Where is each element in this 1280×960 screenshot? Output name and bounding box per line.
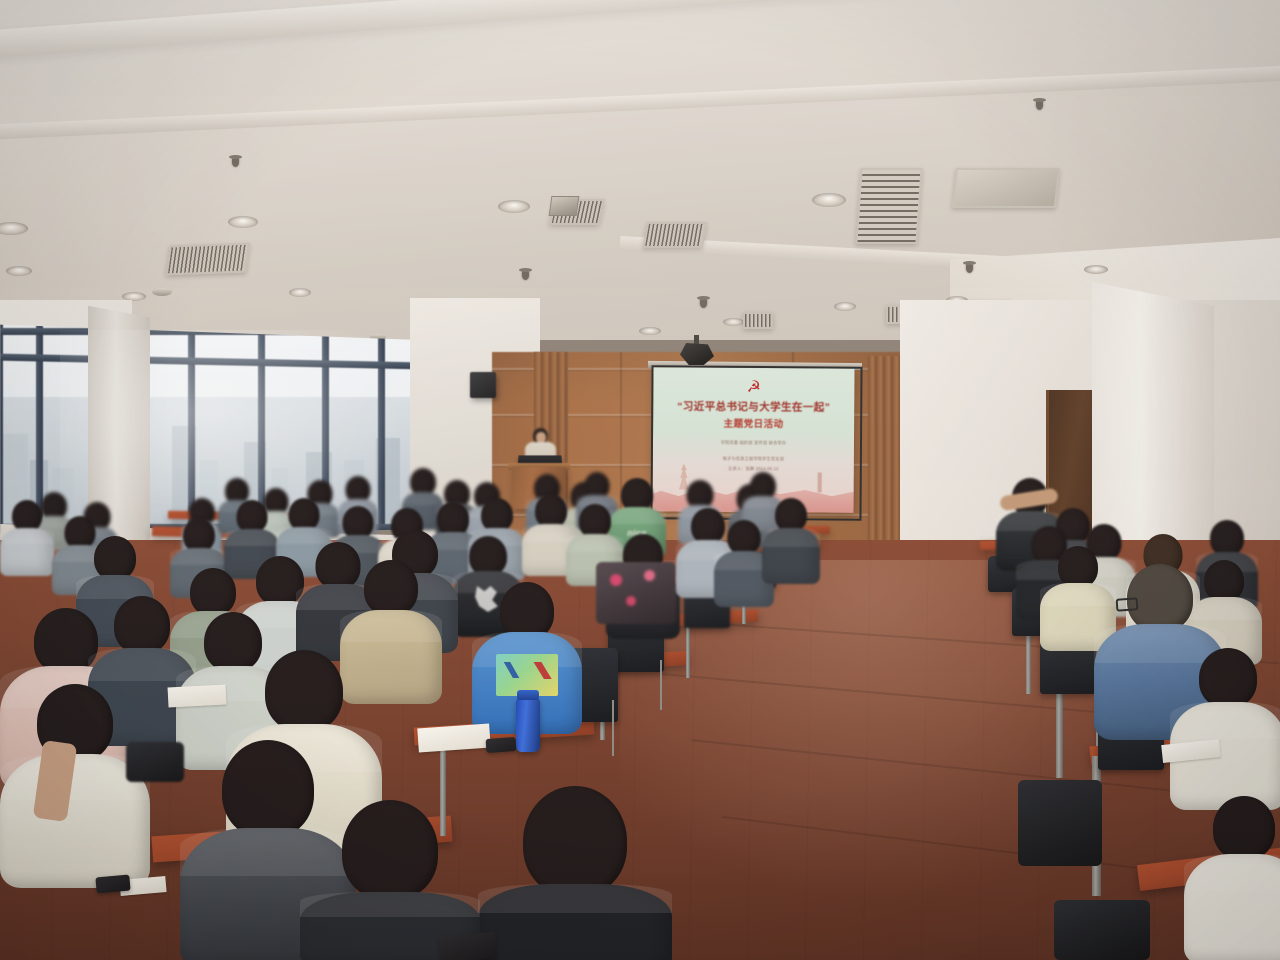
- slide-detail-line-2: 电子与信息工程学院学生党支部: [653, 455, 854, 462]
- shoulder-bag[interactable]: [1054, 900, 1150, 960]
- audience-member: [0, 684, 150, 884]
- recessed-downlight-icon: [289, 288, 311, 297]
- lecture-hall-photo: ☭ “习近平总书记与大学生在一起” 主题党日活动 学院党委 组织部 宣传部 联合…: [0, 0, 1280, 960]
- air-vent-grille-icon: [952, 168, 1060, 208]
- audience-member: [478, 786, 672, 960]
- smartphone[interactable]: [439, 932, 497, 960]
- floral-backpack: [596, 562, 676, 624]
- bottle-cap[interactable]: [517, 690, 539, 700]
- air-vent-grille-icon: [166, 243, 251, 276]
- slide-tower-graphic: [817, 472, 821, 492]
- ceiling-projector-housing: [549, 196, 580, 216]
- smartphone[interactable]: [486, 737, 517, 753]
- slide-detail-line-1: 学院党委 组织部 宣传部 联合举办: [653, 439, 854, 446]
- smartphone[interactable]: [95, 875, 130, 894]
- fire-sprinkler-icon: [522, 271, 529, 280]
- recessed-downlight-icon: [812, 193, 846, 207]
- window-mullion: [378, 318, 385, 538]
- recessed-downlight-icon: [1084, 265, 1108, 274]
- fire-sprinkler-icon: [1036, 101, 1043, 110]
- smoke-detector-icon: [152, 288, 172, 296]
- fire-sprinkler-icon: [700, 299, 707, 308]
- recessed-downlight-icon: [723, 318, 744, 326]
- air-vent-grille-icon: [855, 168, 922, 244]
- audience-member: [1170, 648, 1280, 808]
- water-bottle[interactable]: [516, 698, 540, 752]
- fire-sprinkler-icon: [966, 264, 973, 273]
- recessed-downlight-icon: [6, 266, 32, 276]
- audience-member: [0, 500, 54, 574]
- party-emblem-icon: ☭: [745, 380, 762, 395]
- slide-title: “习近平总书记与大学生在一起”: [653, 398, 854, 414]
- shoulder-bag[interactable]: [126, 742, 184, 782]
- chair-leg: [612, 700, 614, 756]
- air-vent-grille-icon: [643, 222, 708, 248]
- window-transom: [0, 354, 420, 370]
- slide-subtitle: 主题党日活动: [653, 415, 854, 430]
- recessed-downlight-icon: [228, 216, 258, 228]
- eyeglasses-icon: [1116, 597, 1139, 612]
- air-vent-grille-icon: [743, 312, 773, 329]
- recessed-downlight-icon: [498, 200, 530, 213]
- desk-leg: [686, 622, 690, 678]
- audience-member: [1184, 796, 1280, 960]
- recessed-downlight-icon: [834, 302, 856, 311]
- shoulder-bag[interactable]: [1018, 780, 1102, 866]
- recessed-downlight-icon: [639, 327, 661, 335]
- wall-loudspeaker: [470, 372, 496, 398]
- handout-paper[interactable]: [417, 724, 490, 753]
- audience-member: [762, 498, 820, 582]
- chair-leg: [660, 660, 662, 710]
- fire-sprinkler-icon: [232, 158, 239, 167]
- handout-paper[interactable]: [168, 684, 227, 707]
